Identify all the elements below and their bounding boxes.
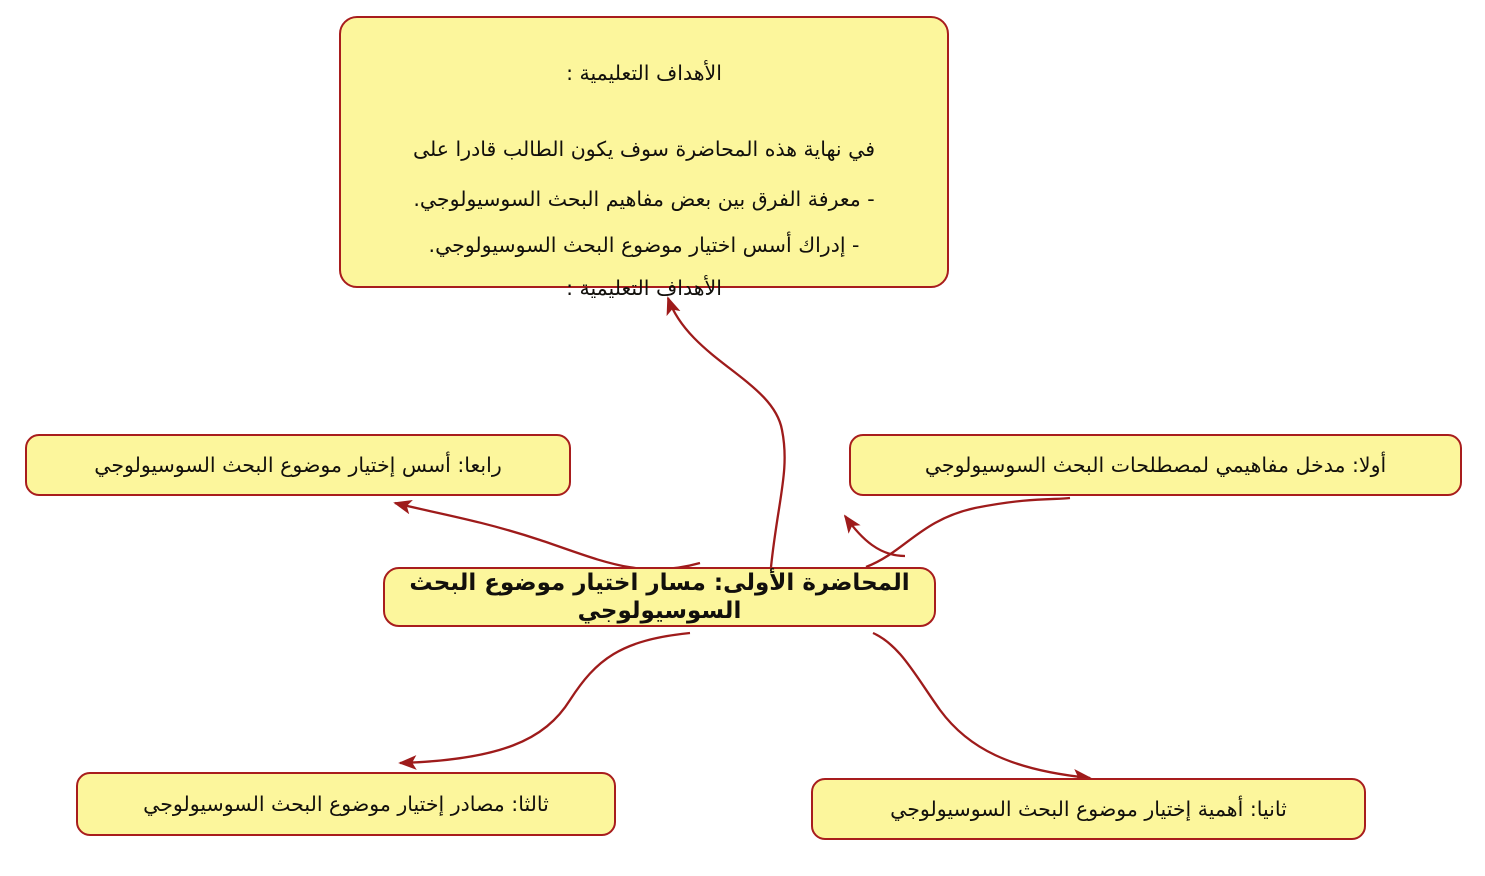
objectives-title: الأهداف التعليمية : [353, 60, 935, 86]
edge-center-to-first [866, 498, 1070, 567]
branch-first-label: أولا: مدخل مفاهيمي لمصطلحات البحث السوسي… [863, 453, 1448, 477]
objectives-node[interactable]: الأهداف التعليمية : في نهاية هذه المحاضر… [339, 16, 949, 288]
edge-center-to-objectives [668, 298, 785, 567]
branch-second-node[interactable]: ثانيا: أهمية إختيار موضوع البحث السوسيول… [811, 778, 1366, 840]
edge-center-to-third [400, 633, 690, 763]
branch-fourth-label: رابعا: أسس إختيار موضوع البحث السوسيولوج… [39, 453, 557, 477]
diagram-canvas: الأهداف التعليمية : في نهاية هذه المحاضر… [0, 0, 1485, 876]
objectives-text: الأهداف التعليمية : في نهاية هذه المحاضر… [353, 34, 935, 326]
objectives-bullet-2: - إدراك أسس اختيار موضوع البحث السوسيولو… [353, 232, 935, 258]
central-topic-node[interactable]: المحاضرة الأولى: مسار اختيار موضوع البحث… [383, 567, 936, 627]
central-topic-label: المحاضرة الأولى: مسار اختيار موضوع البحث… [397, 569, 922, 625]
objectives-intro: في نهاية هذه المحاضرة سوف يكون الطالب قا… [353, 134, 935, 164]
branch-third-node[interactable]: ثالثا: مصادر إختيار موضوع البحث السوسيول… [76, 772, 616, 836]
edge-center-to-first-tail [845, 516, 905, 556]
branch-second-label: ثانيا: أهمية إختيار موضوع البحث السوسيول… [825, 797, 1352, 821]
branch-fourth-node[interactable]: رابعا: أسس إختيار موضوع البحث السوسيولوج… [25, 434, 571, 496]
branch-third-label: ثالثا: مصادر إختيار موضوع البحث السوسيول… [90, 792, 602, 816]
edge-center-to-fourth [395, 503, 700, 569]
branch-first-node[interactable]: أولا: مدخل مفاهيمي لمصطلحات البحث السوسي… [849, 434, 1462, 496]
objectives-footer: الأهداف التعليمية : [353, 276, 935, 300]
edge-center-to-second [873, 633, 1090, 778]
objectives-bullet-1: - معرفة الفرق بين بعض مفاهيم البحث السوس… [353, 186, 935, 212]
